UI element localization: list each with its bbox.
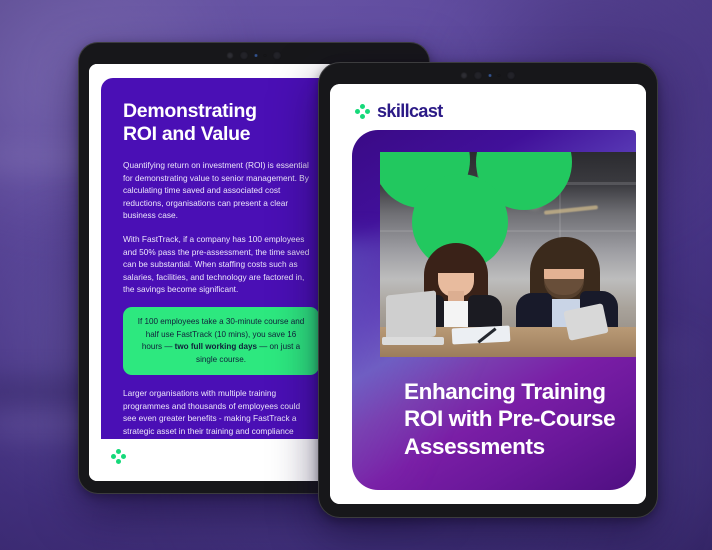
hero-title-line-1: Enhancing Training	[404, 378, 618, 405]
camera-indicator-icon	[489, 74, 492, 77]
laptop-prop	[386, 290, 436, 341]
callout-text: If 100 employees take a 30-minute course…	[135, 316, 307, 366]
camera-array-icon	[461, 70, 516, 80]
green-dot-cluster-icon	[111, 449, 126, 464]
tablet-device-front: skillcast	[318, 62, 658, 518]
back-page-paragraph-2: With FastTrack, if a company has 100 emp…	[123, 233, 315, 296]
callout-text-bold: two full working days	[175, 342, 257, 351]
highlight-callout-box: If 100 employees take a 30-minute course…	[123, 307, 319, 375]
camera-sensor-icon	[498, 74, 501, 77]
camera-lens-icon	[227, 52, 234, 59]
skillcast-dot-cluster-icon	[355, 104, 370, 119]
camera-lens-icon	[507, 71, 516, 80]
hero-title-line-2: ROI with Pre-Course	[404, 405, 618, 432]
camera-sensor-icon	[264, 54, 267, 57]
document-page-front: skillcast	[330, 84, 646, 504]
hero-title-line-3: Assessments	[404, 433, 618, 460]
camera-array-icon	[227, 50, 282, 60]
hero-card: Enhancing Training ROI with Pre-Course A…	[352, 130, 636, 490]
camera-lens-icon	[240, 51, 249, 60]
person-man-hair-top	[536, 241, 592, 269]
camera-lens-icon	[461, 72, 468, 79]
brand-name: skillcast	[377, 101, 443, 122]
skillcast-logo: skillcast	[341, 94, 635, 124]
hero-photo	[380, 152, 636, 357]
laptop-base-prop	[382, 337, 444, 345]
camera-lens-icon	[273, 51, 282, 60]
tablet-screen-front: skillcast	[330, 84, 646, 504]
back-page-paragraph-1: Quantifying return on investment (ROI) i…	[123, 159, 315, 222]
screenshot-stage: Demonstrating ROI and Value Quantifying …	[0, 0, 712, 550]
hero-title: Enhancing Training ROI with Pre-Course A…	[404, 378, 618, 460]
camera-indicator-icon	[255, 54, 258, 57]
camera-lens-icon	[474, 71, 483, 80]
